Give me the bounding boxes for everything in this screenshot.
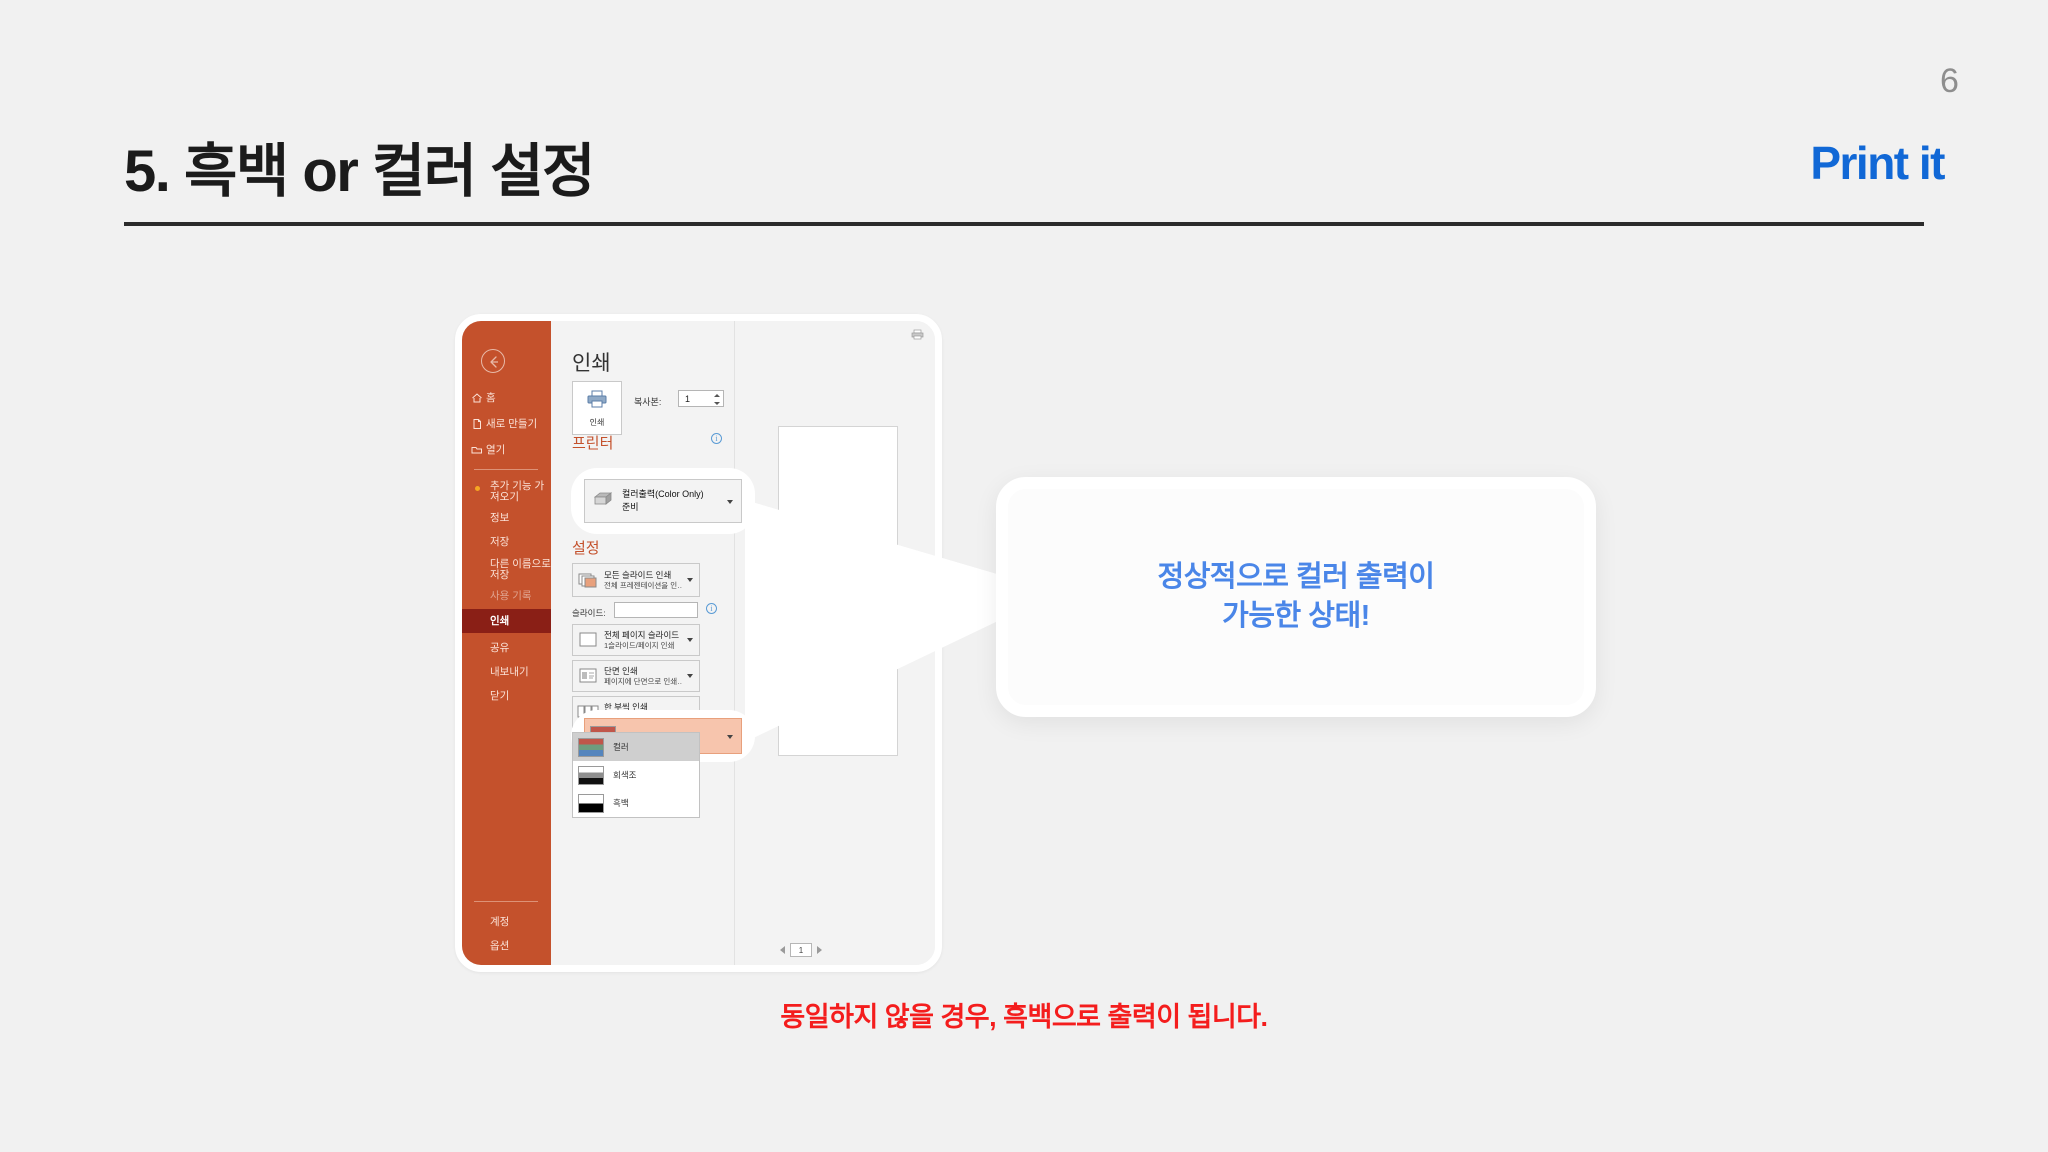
chevron-down-icon[interactable] [727,735,733,739]
printer-callout: 컬러출력(Color Only) 준비 [571,468,755,534]
color-option-grayscale[interactable]: 회색조 [573,761,699,789]
sidebar-item-label: 홈 [486,392,496,404]
printer-text: 컬러출력(Color Only) 준비 [622,488,704,514]
printer-device-icon [591,488,615,515]
grayscale-swatch-icon [578,766,604,785]
slides-label: 슬라이드: [572,607,606,619]
brand-logo: Print it [1810,136,1944,190]
page-title: 5. 흑백 or 컬러 설정 [124,124,594,208]
sidebar-item-save[interactable]: 저장 [462,535,551,549]
status-message-line1: 정상적으로 컬러 출력이 [1158,558,1435,597]
chevron-down-icon[interactable] [727,500,733,504]
preview-navigation[interactable]: 1 [780,943,827,957]
printer-section-heading: 프린터 [572,432,613,453]
print-settings-pane: 인쇄 인쇄 복사본: 1 프린터 i 프린터 속성 [551,321,935,965]
color-option-color[interactable]: 컬러 [573,733,699,761]
sidebar-item-label: 인쇄 [490,615,509,627]
print-button-label: 인쇄 [590,417,605,428]
sidebar-item-label: 열기 [486,444,505,456]
sidebar-item-options[interactable]: 옵션 [462,939,551,953]
sidebar-item-history[interactable]: 사용 기록 [462,589,551,603]
all-slides-icon [577,570,599,590]
print-preview-pane: 1 [728,321,935,965]
printer-info-icon[interactable]: i [711,433,722,444]
sidebar-item-close[interactable]: 닫기 [462,689,551,703]
page-indicator[interactable]: 1 [790,943,812,957]
sidebar-item-label: 계정 [490,916,509,928]
setting-row-text: 단면 인쇄 페이지에 단면으로 인쇄… [604,666,682,687]
sidebar-item-label: 정보 [490,512,509,524]
powerpoint-print-dialog: 홈 새로 만들기 열기 추가 기능 가져오기 정보 [455,314,942,972]
sidebar-item-save-as[interactable]: 다른 이름으로 저장 [462,559,551,581]
sidebar-item-home[interactable]: 홈 [462,391,551,405]
sidebar-divider-2 [474,901,538,902]
printer-icon [586,389,608,414]
sidebar-item-export[interactable]: 내보내기 [462,665,551,679]
next-page-icon[interactable] [817,946,822,954]
folder-open-icon [471,444,483,456]
sidebar-item-label: 닫기 [490,690,509,702]
sidebar-item-open[interactable]: 열기 [462,443,551,457]
sidebar-item-new[interactable]: 새로 만들기 [462,417,551,431]
settings-section-heading: 설정 [572,537,600,558]
status-message-line2: 가능한 상태! [1158,597,1435,636]
chevron-down-icon[interactable] [687,674,693,678]
color-option-blackwhite[interactable]: 흑백 [573,789,699,817]
copies-value: 1 [685,394,690,404]
color-swatch-icon [578,738,604,757]
dot-icon [475,486,480,491]
setting-row-layout[interactable]: 전체 페이지 슬라이드 1슬라이드/페이지 인쇄 [572,624,700,656]
title-divider [124,222,1924,226]
status-message: 정상적으로 컬러 출력이 가능한 상태! [1158,558,1435,636]
chevron-down-icon[interactable] [687,578,693,582]
slides-info-icon[interactable]: i [706,603,717,614]
sidebar-item-label: 사용 기록 [490,590,532,602]
slide-preview [778,426,898,756]
bottom-caption: 동일하지 않을 경우, 흑백으로 출력이 됩니다. [0,995,2048,1034]
printer-dropdown[interactable]: 컬러출력(Color Only) 준비 [584,479,742,523]
setting-row-sides[interactable]: 단면 인쇄 페이지에 단면으로 인쇄… [572,660,700,692]
sidebar-divider-1 [474,469,538,470]
print-heading: 인쇄 [572,347,611,377]
full-page-slide-icon [577,630,599,650]
setting-row-range[interactable]: 모든 슬라이드 인쇄 전체 프레젠테이션을 인… [572,563,700,597]
previous-page-icon[interactable] [780,946,785,954]
sidebar-item-share[interactable]: 공유 [462,641,551,655]
color-dropdown-list[interactable]: 컬러 회색조 흑백 [572,732,700,818]
slide: 6 5. 흑백 or 컬러 설정 Print it 홈 새로 만들기 [0,0,2048,1152]
home-icon [471,392,483,404]
sidebar-item-label: 옵션 [490,940,509,952]
status-message-box: 정상적으로 컬러 출력이 가능한 상태! [996,477,1596,717]
copies-input[interactable]: 1 [678,390,724,407]
setting-row-text: 모든 슬라이드 인쇄 전체 프레젠테이션을 인… [604,570,682,591]
setting-row-text: 전체 페이지 슬라이드 1슬라이드/페이지 인쇄 [604,630,682,651]
backstage-sidebar: 홈 새로 만들기 열기 추가 기능 가져오기 정보 [462,321,551,965]
sidebar-item-info[interactable]: 정보 [462,511,551,525]
sidebar-item-label: 새로 만들기 [486,418,537,430]
chevron-down-icon[interactable] [687,638,693,642]
printer-icon [911,327,925,345]
new-doc-icon [471,418,483,430]
copies-stepper[interactable] [712,392,721,407]
back-arrow-icon[interactable] [481,349,505,373]
sidebar-item-label: 내보내기 [490,666,529,678]
sidebar-item-account[interactable]: 계정 [462,915,551,929]
one-sided-icon [577,666,599,686]
blackwhite-swatch-icon [578,794,604,813]
print-button[interactable]: 인쇄 [572,381,622,435]
sidebar-item-label: 저장 [490,536,509,548]
slides-input[interactable] [614,602,698,618]
sidebar-item-label: 다른 이름으로 저장 [490,559,551,581]
sidebar-item-label: 추가 기능 가져오기 [490,481,551,503]
copies-label: 복사본: [634,395,661,408]
preview-divider [734,321,735,965]
sidebar-item-get-addins[interactable]: 추가 기능 가져오기 [462,481,551,503]
sidebar-item-print[interactable]: 인쇄 [462,609,551,633]
page-number: 6 [1940,62,1959,101]
sidebar-item-label: 공유 [490,642,509,654]
